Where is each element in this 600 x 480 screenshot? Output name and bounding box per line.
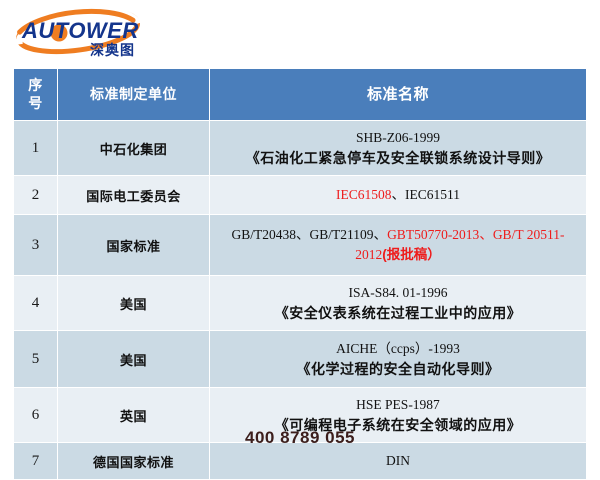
standard-code: SHB-Z06-1999 (218, 128, 578, 148)
table-row: 7 德国国家标准 DIN (14, 443, 587, 480)
table-header: 序 号 标准制定单位 标准名称 (14, 69, 587, 121)
row-standard-name: IEC61508、IEC61511 (210, 176, 587, 215)
table-row: 3 国家标准 GB/T20438、GB/T21109、GBT50770-2013… (14, 215, 587, 276)
row-serial: 2 (14, 176, 58, 215)
standard-code-separator: 、 (479, 227, 493, 242)
standard-code: AICHE（ccps）-1993 (218, 339, 578, 359)
standard-code: HSE PES-1987 (218, 395, 578, 415)
table-row: 1 中石化集团 SHB-Z06-1999 《石油化工紧急停车及安全联锁系统设计导… (14, 121, 587, 176)
table-row: 5 美国 AICHE（ccps）-1993 《化学过程的安全自动化导则》 (14, 331, 587, 388)
row-serial: 1 (14, 121, 58, 176)
row-organization: 德国国家标准 (58, 443, 210, 480)
autower-logo-icon: AUTOWER 深奥图 (12, 6, 162, 60)
row-standard-name: GB/T20438、GB/T21109、GBT50770-2013、GB/T 2… (210, 215, 587, 276)
row-standard-name: SHB-Z06-1999 《石油化工紧急停车及安全联锁系统设计导则》 (210, 121, 587, 176)
logo-wordmark: AUTOWER (21, 18, 139, 43)
logo-chinese-name: 深奥图 (90, 42, 135, 58)
row-organization: 美国 (58, 331, 210, 388)
standard-code-draft-note: (报批稿） (382, 247, 441, 262)
row-serial: 7 (14, 443, 58, 480)
column-header-standard-name: 标准名称 (210, 69, 587, 121)
table-header-row: 序 号 标准制定单位 标准名称 (14, 69, 587, 121)
row-standard-name: AICHE（ccps）-1993 《化学过程的安全自动化导则》 (210, 331, 587, 388)
standard-code-plain: GB/T20438、GB/T21109、 (232, 227, 388, 242)
standard-code-highlighted: IEC61508 (336, 187, 392, 202)
standard-code-line: GB/T20438、GB/T21109、GBT50770-2013、GB/T 2… (218, 225, 578, 264)
row-serial: 5 (14, 331, 58, 388)
standard-title: 《化学过程的安全自动化导则》 (218, 359, 578, 379)
standard-code-secondary: IEC61511 (405, 187, 460, 202)
standards-table: 序 号 标准制定单位 标准名称 1 中石化集团 SHB-Z06-1999 《石油… (13, 68, 587, 480)
standard-code-line: IEC61508、IEC61511 (218, 185, 578, 205)
company-logo: AUTOWER 深奥图 (12, 6, 162, 60)
standard-code-separator: 、 (392, 187, 406, 202)
row-organization: 国家标准 (58, 215, 210, 276)
row-organization: 美国 (58, 276, 210, 331)
row-organization: 国际电工委员会 (58, 176, 210, 215)
column-header-serial: 序 号 (14, 69, 58, 121)
row-organization: 中石化集团 (58, 121, 210, 176)
standard-title: 《安全仪表系统在过程工业中的应用》 (218, 303, 578, 323)
row-standard-name: DIN (210, 443, 587, 480)
row-serial: 4 (14, 276, 58, 331)
table-body: 1 中石化集团 SHB-Z06-1999 《石油化工紧急停车及安全联锁系统设计导… (14, 121, 587, 480)
standard-code-highlighted-1: GBT50770-2013 (387, 227, 479, 242)
serial-header-line1: 序 (20, 77, 51, 95)
table-row: 4 美国 ISA-S84. 01-1996 《安全仪表系统在过程工业中的应用》 (14, 276, 587, 331)
footer-phone-number: 400 8789 055 (0, 428, 600, 448)
standard-title: 《石油化工紧急停车及安全联锁系统设计导则》 (218, 148, 578, 168)
standard-code: DIN (218, 451, 578, 471)
table-row: 2 国际电工委员会 IEC61508、IEC61511 (14, 176, 587, 215)
standard-code: ISA-S84. 01-1996 (218, 283, 578, 303)
row-standard-name: ISA-S84. 01-1996 《安全仪表系统在过程工业中的应用》 (210, 276, 587, 331)
serial-header-line2: 号 (20, 95, 51, 113)
row-serial: 3 (14, 215, 58, 276)
column-header-organization: 标准制定单位 (58, 69, 210, 121)
